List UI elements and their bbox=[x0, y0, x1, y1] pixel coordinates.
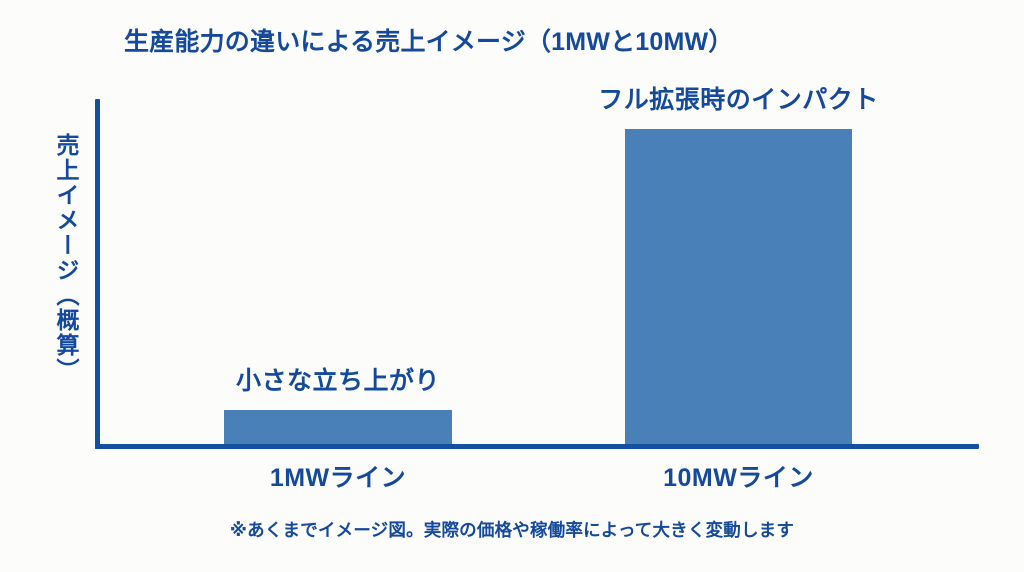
sales-image-bar-chart: 生産能力の違いによる売上イメージ（1MWと10MW） 売上イメージ（概算） 小さ… bbox=[0, 0, 1024, 572]
bar-group-1mw: 小さな立ち上がり bbox=[224, 410, 452, 444]
x-axis-line bbox=[95, 444, 979, 449]
bar-annotation-1mw: 小さな立ち上がり bbox=[236, 361, 440, 397]
x-tick-label-10mw: 10MWライン bbox=[625, 458, 852, 494]
bar-annotation-10mw: フル拡張時のインパクト bbox=[598, 80, 879, 116]
x-tick-label-1mw: 1MWライン bbox=[224, 458, 452, 494]
plot-area: 小さな立ち上がり フル拡張時のインパクト bbox=[100, 99, 979, 444]
bar-10mw bbox=[625, 129, 852, 444]
chart-footnote: ※あくまでイメージ図。実際の価格や稼働率によって大きく変動します bbox=[0, 517, 1024, 542]
chart-title: 生産能力の違いによる売上イメージ（1MWと10MW） bbox=[124, 22, 734, 58]
bar-1mw bbox=[224, 410, 452, 444]
y-axis-label: 売上イメージ（概算） bbox=[33, 133, 77, 383]
bar-group-10mw: フル拡張時のインパクト bbox=[625, 129, 852, 444]
